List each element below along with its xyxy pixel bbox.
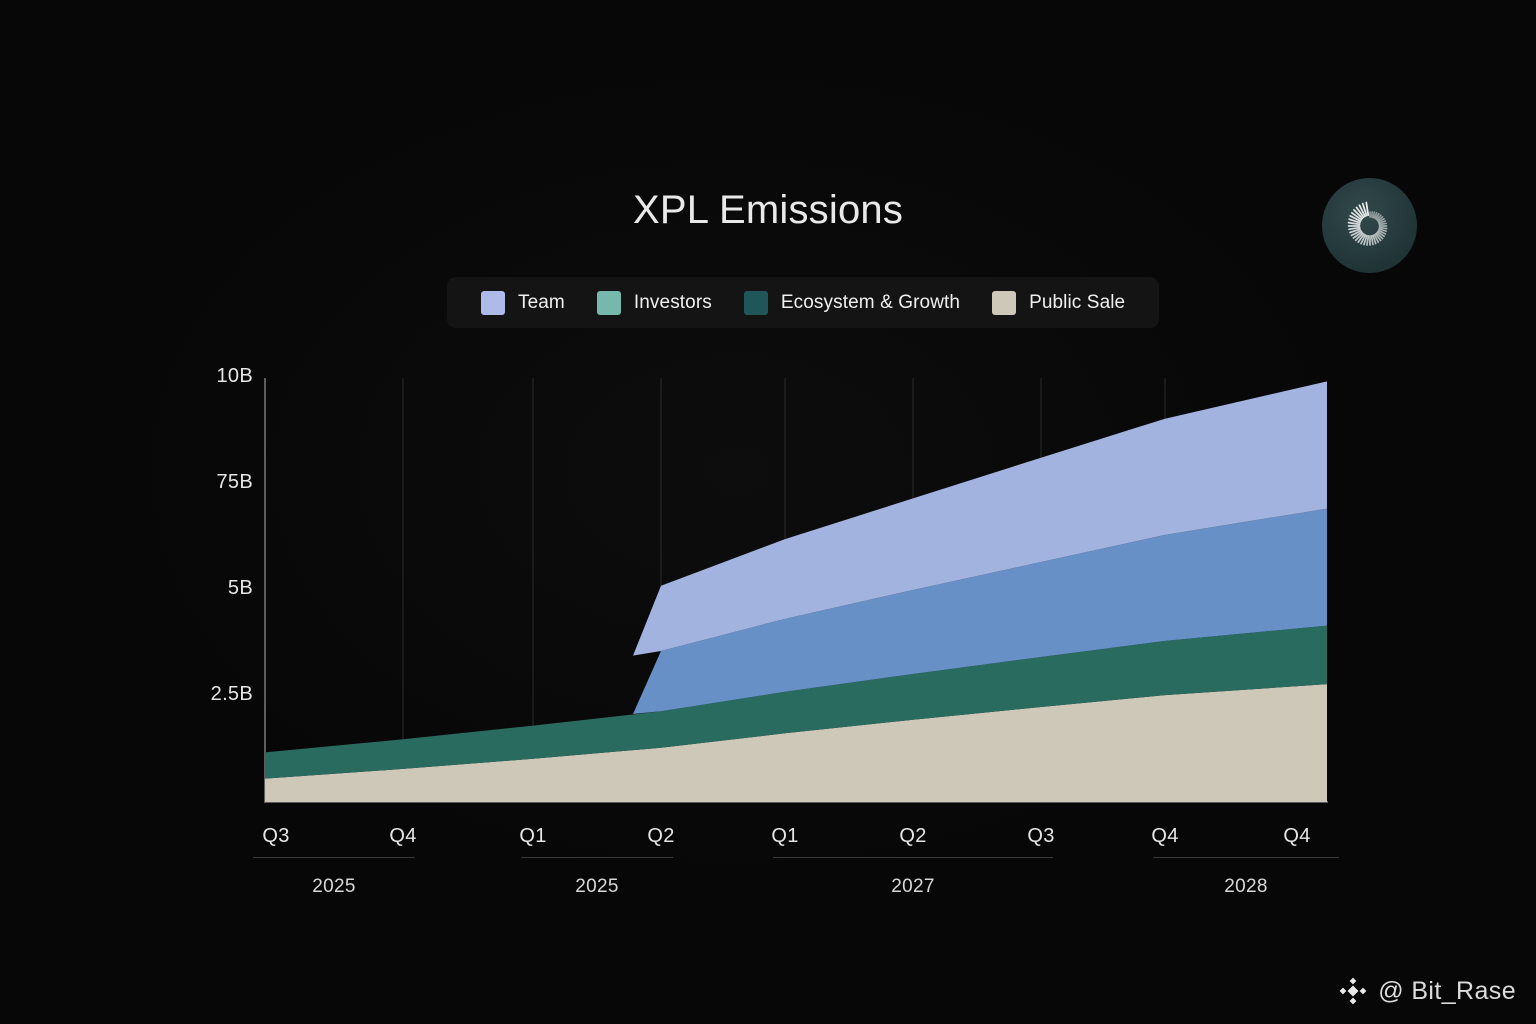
- legend-item-3[interactable]: Public Sale: [976, 277, 1141, 328]
- legend-item-1[interactable]: Investors: [581, 277, 728, 328]
- watermark: @ Bit_Rase: [1338, 976, 1516, 1006]
- legend-item-0[interactable]: Team: [465, 277, 581, 328]
- plot-area: [265, 378, 1327, 802]
- radial-burst-icon: [1339, 195, 1401, 257]
- y-tick-label-3: 10B: [183, 365, 253, 388]
- x-tick-label-0: Q3: [262, 825, 289, 848]
- x-year-rule-1: [521, 857, 673, 858]
- binance-diamond-icon: [1338, 976, 1368, 1006]
- legend-swatch-icon: [744, 291, 768, 315]
- y-tick-label-1: 5B: [183, 577, 253, 600]
- burst-ray: [1379, 227, 1386, 228]
- x-year-rule-0: [253, 857, 415, 858]
- burst-ray: [1379, 223, 1386, 224]
- stacked-area-chart: [265, 378, 1327, 802]
- x-axis-ticks: Q3Q4Q1Q2Q1Q2Q3Q4Q4: [0, 825, 1536, 855]
- x-axis-year-labels: 2025202520272028: [0, 876, 1536, 906]
- y-tick-label-0: 2.5B: [183, 683, 253, 706]
- x-year-rule-3: [1153, 857, 1339, 858]
- x-year-label-0: 2025: [312, 876, 355, 898]
- legend-swatch-icon: [597, 291, 621, 315]
- x-tick-label-7: Q4: [1151, 825, 1178, 848]
- plasma-radial-logo-icon: [1322, 178, 1417, 273]
- x-tick-label-1: Q4: [389, 825, 416, 848]
- x-year-label-2: 2027: [891, 876, 934, 898]
- legend-swatch-icon: [992, 291, 1016, 315]
- watermark-handle: @ Bit_Rase: [1378, 977, 1516, 1006]
- x-year-label-3: 2028: [1224, 876, 1267, 898]
- y-axis-ticks: 2.5B5B75B10B: [175, 0, 253, 1024]
- chart-legend: TeamInvestorsEcosystem & GrowthPublic Sa…: [447, 277, 1159, 328]
- legend-item-2[interactable]: Ecosystem & Growth: [728, 277, 976, 328]
- area-series-group: [265, 381, 1327, 802]
- x-tick-label-8: Q4: [1283, 825, 1310, 848]
- legend-item-label: Investors: [634, 292, 712, 314]
- x-year-rule-2: [773, 857, 1053, 858]
- legend-swatch-icon: [481, 291, 505, 315]
- chart-screenshot: XPL Emissions TeamInvestorsEcosystem & G…: [0, 0, 1536, 1024]
- y-tick-label-2: 75B: [183, 471, 253, 494]
- legend-item-label: Team: [518, 292, 565, 314]
- x-tick-label-2: Q1: [519, 825, 546, 848]
- x-year-label-1: 2025: [575, 876, 618, 898]
- x-tick-label-4: Q1: [771, 825, 798, 848]
- burst-ray: [1371, 211, 1372, 216]
- legend-item-label: Ecosystem & Growth: [781, 292, 960, 314]
- x-tick-label-5: Q2: [899, 825, 926, 848]
- x-tick-label-6: Q3: [1027, 825, 1054, 848]
- x-tick-label-3: Q2: [647, 825, 674, 848]
- legend-item-label: Public Sale: [1029, 292, 1125, 314]
